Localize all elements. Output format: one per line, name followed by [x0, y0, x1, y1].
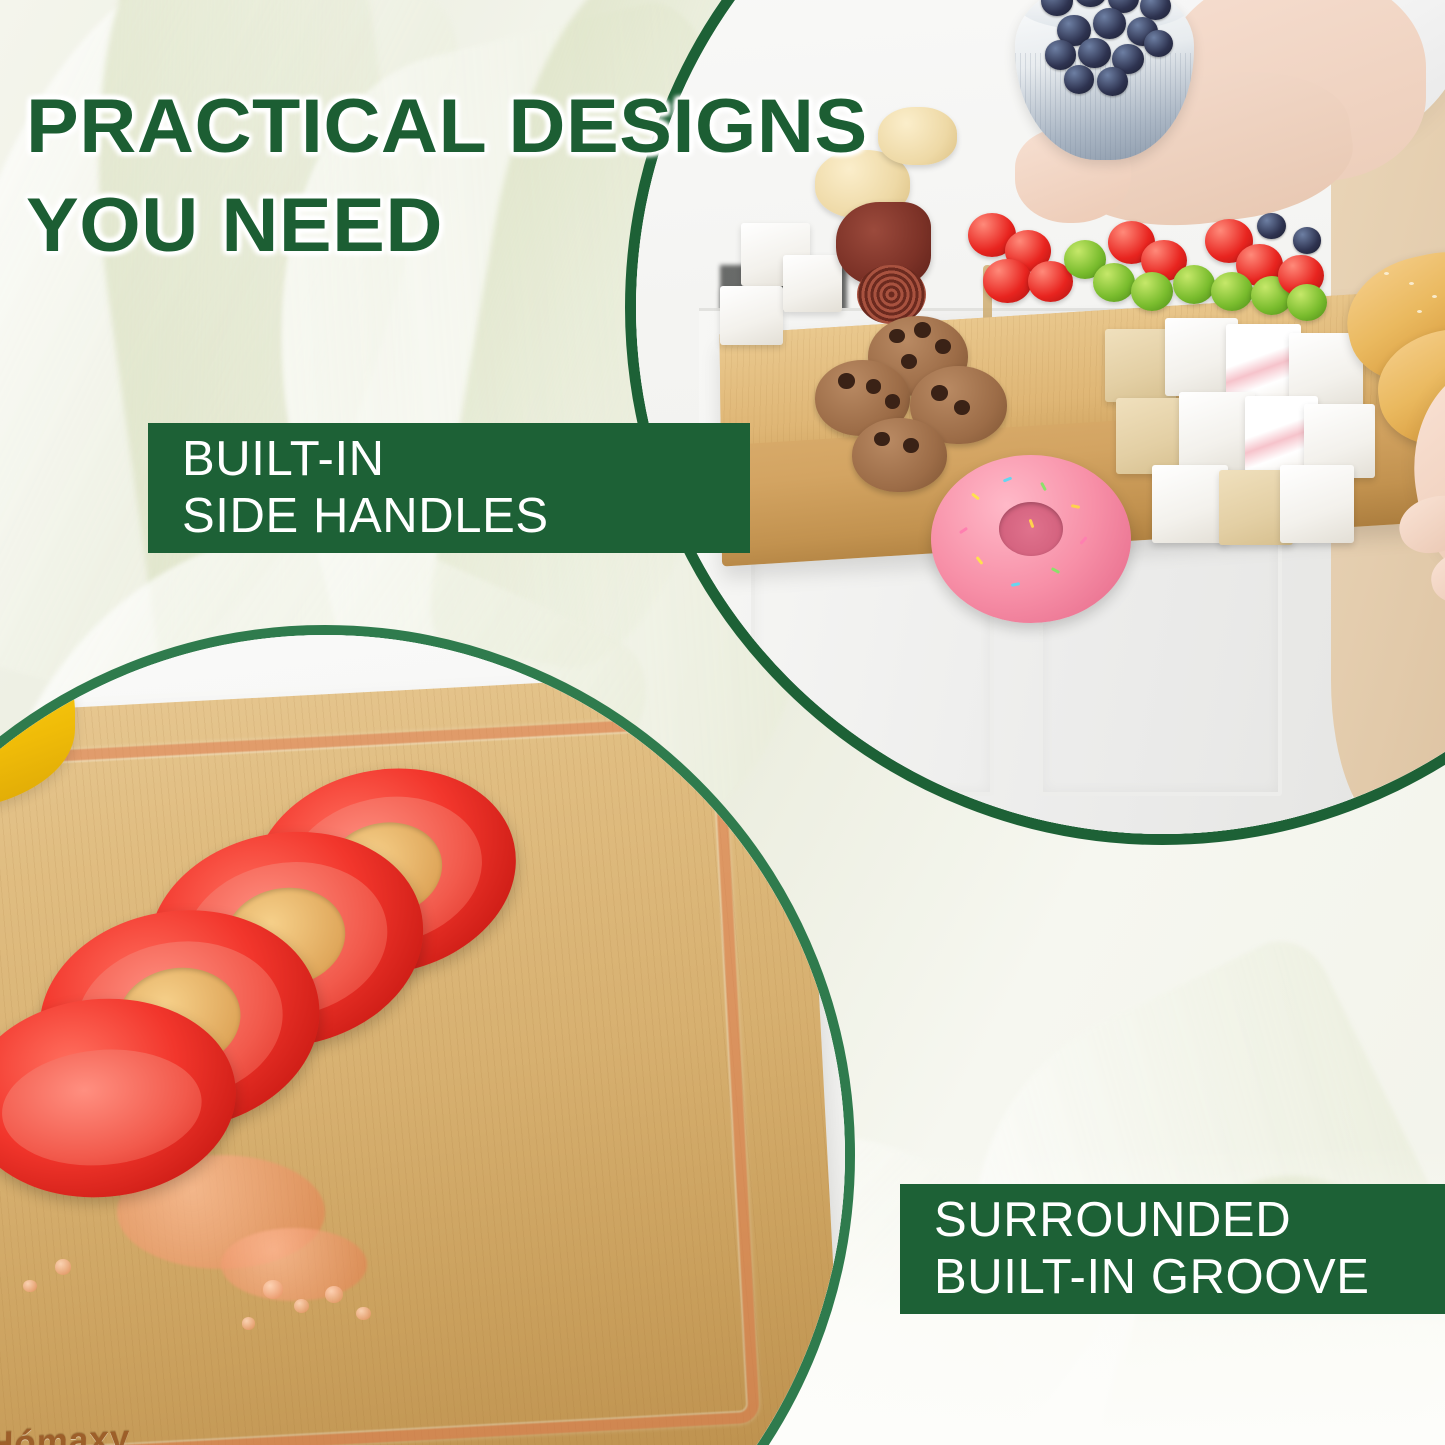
label-built-in-side-handles: BUILT-IN SIDE HANDLES [148, 423, 750, 553]
label-groove-line-2: BUILT-IN GROOVE [934, 1249, 1445, 1306]
label-handles-line-1: BUILT-IN [182, 431, 750, 488]
headline-line-2: YOU NEED [26, 177, 868, 276]
label-groove-line-1: SURROUNDED [934, 1192, 1445, 1249]
page-title: PRACTICAL DESIGNS YOU NEED [26, 78, 868, 276]
photo-built-in-groove: Hómaxy [0, 625, 855, 1445]
label-surrounded-built-in-groove: SURROUNDED BUILT-IN GROOVE [900, 1184, 1445, 1314]
pink-frosted-donut [931, 455, 1131, 623]
label-handles-line-2: SIDE HANDLES [182, 488, 750, 545]
infographic-canvas: Hómaxy PRACTICAL DESIGNS YOU NEED BUILT-… [0, 0, 1445, 1445]
headline-line-1: PRACTICAL DESIGNS [26, 78, 868, 177]
